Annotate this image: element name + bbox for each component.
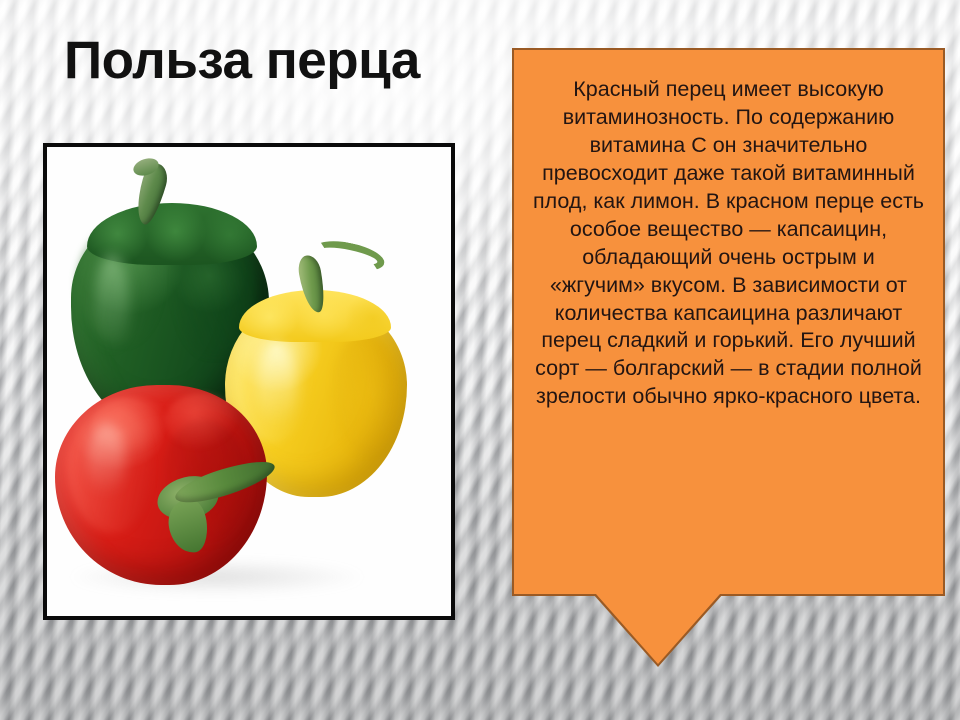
yellow-pepper-highlight bbox=[257, 343, 297, 427]
callout-body-text: Красный перец имеет высокую витаминознос… bbox=[514, 50, 943, 421]
pepper-photo-canvas bbox=[47, 147, 451, 616]
slide-canvas: Польза перца bbox=[0, 0, 960, 720]
yellow-pepper-stem-curl bbox=[311, 236, 387, 276]
green-pepper-highlight bbox=[95, 255, 129, 351]
callout-bubble: Красный перец имеет высокую витаминознос… bbox=[512, 48, 945, 596]
yellow-pepper-lobe-right bbox=[333, 333, 399, 453]
callout-tail bbox=[596, 594, 720, 664]
red-pepper-bump-right bbox=[165, 393, 239, 449]
red-pepper-highlight bbox=[87, 423, 125, 495]
pepper-photo-frame bbox=[43, 143, 455, 620]
page-title: Польза перца bbox=[64, 33, 420, 89]
